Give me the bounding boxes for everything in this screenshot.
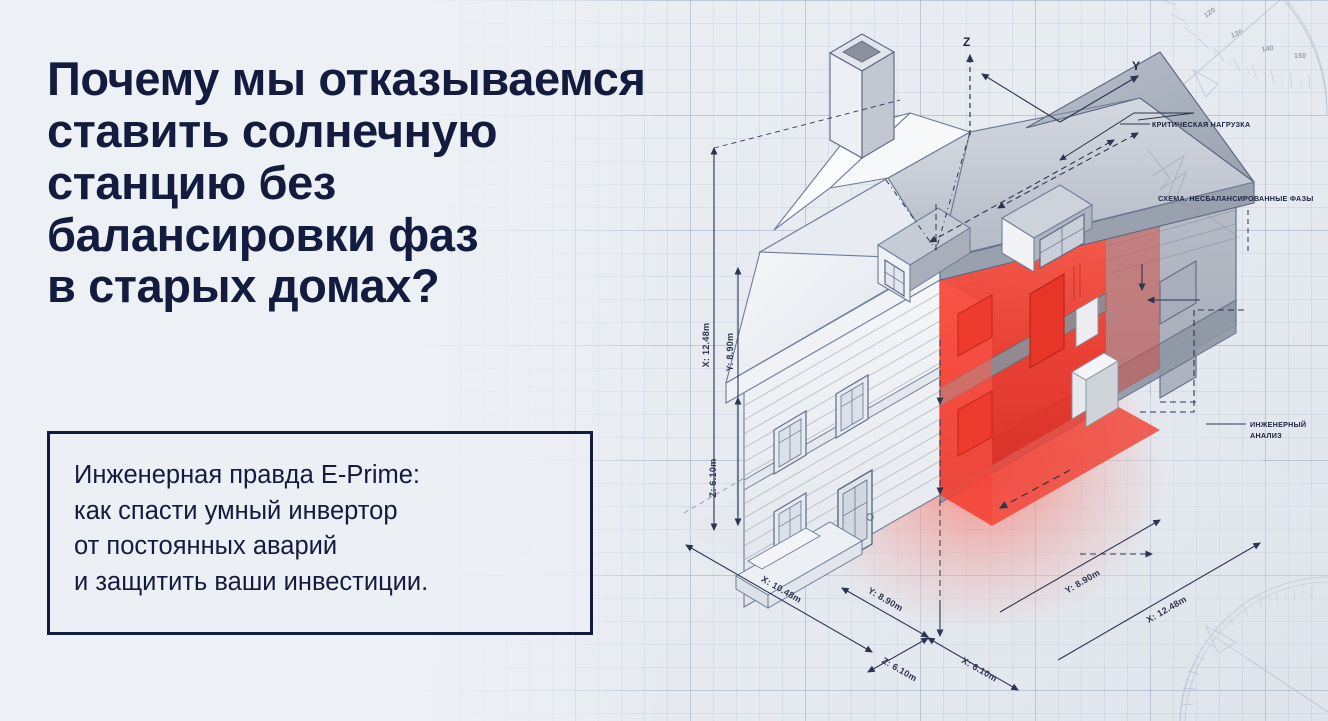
subtitle-text: Инженерная правда E-Prime: как спасти ум… (74, 458, 574, 601)
callout-engineering-analysis-line2: АНАЛИЗ (1250, 431, 1282, 440)
protractor-tick-label: 130 (1230, 29, 1244, 40)
dim-left-upper-height: Y: 8.90m (725, 333, 735, 372)
callout-critical-load-label: КРИТИЧЕСКАЯ НАГРУЗКА (1152, 120, 1250, 129)
protractor-tick-label: 120 (1203, 7, 1217, 20)
axis-label-z: Z (963, 35, 970, 49)
callout-engineering-analysis: ИНЖЕНЕРНЫЙ АНАЛИЗ (1206, 420, 1306, 440)
page-title: Почему мы отказываемся ставить солнечную… (47, 53, 667, 311)
protractor-tick-label: 140 (1261, 45, 1274, 54)
isometric-house-diagram: 100 110 120 130 140 150 (640, 0, 1328, 721)
dim-left-overall-height: X: 12.48m (701, 323, 711, 368)
dim-front-bottom-left: Z: 6.10m (880, 655, 919, 683)
callout-engineering-analysis-line1: ИНЖЕНЕРНЫЙ (1250, 420, 1306, 429)
banner-canvas: 100 110 120 130 140 150 (0, 0, 1328, 721)
subtitle-box: Инженерная правда E-Prime: как спасти ум… (47, 431, 593, 635)
protractor-tick-label: 150 (1294, 53, 1306, 60)
dim-left-lower-height: Z: 6.10m (708, 459, 718, 498)
chimney (830, 34, 894, 158)
axis-label-y: Y (1132, 59, 1140, 73)
callout-unbalanced-phases-label: СХЕМА. НЕСБАЛАНСИРОВАННЫЕ ФАЗЫ (1158, 194, 1314, 203)
